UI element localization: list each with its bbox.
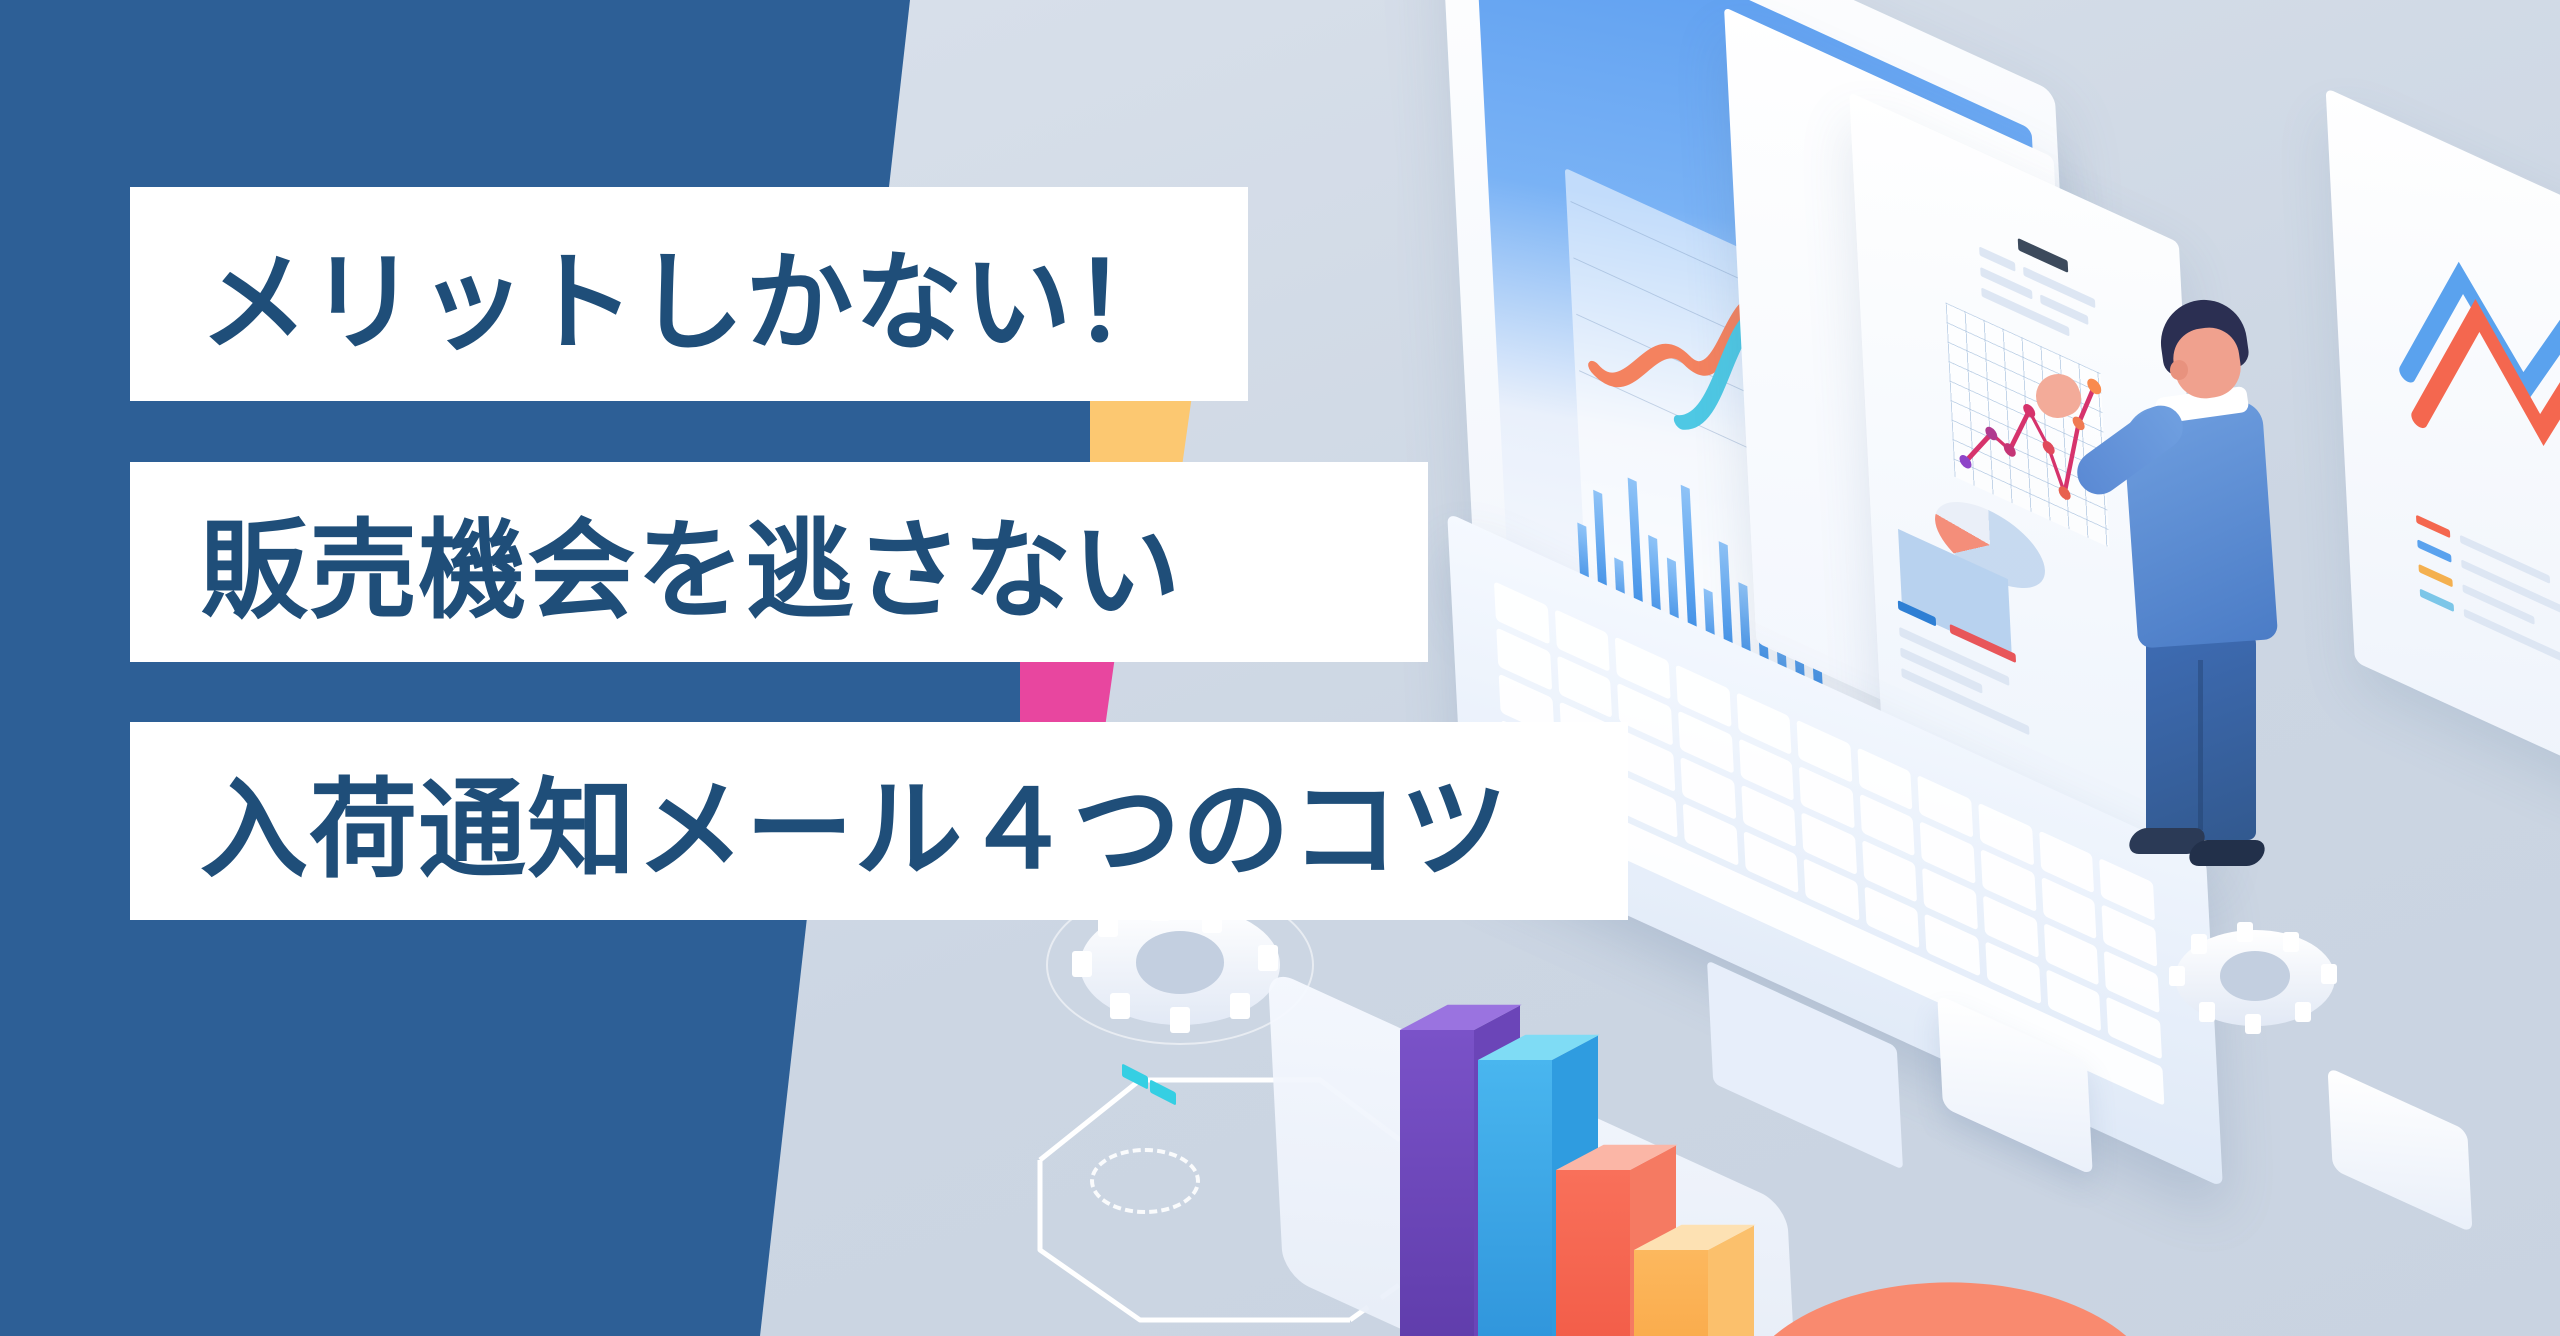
headline-text-1: メリットしかない！: [200, 216, 1182, 372]
pie-chart-3d: [1740, 1190, 2160, 1336]
headline-line-2: 販売機会を逃さない: [130, 462, 1428, 662]
headline-line-1: メリットしかない！: [130, 187, 1248, 401]
white-cube-decoration-2: [2327, 1067, 2472, 1233]
figure-ear: [2170, 360, 2188, 380]
gear-icon-secondary: [2175, 930, 2335, 1026]
headline-group: メリットしかない！ 販売機会を逃さない 入荷通知メール４つのコツ: [0, 0, 1750, 1336]
figure-shoe-right: [2186, 840, 2268, 866]
businessman-figure: [2070, 300, 2290, 860]
divider-bar-1: [0, 400, 1090, 462]
headline-line-3: 入荷通知メール４つのコツ: [130, 722, 1628, 920]
headline-text-2: 販売機会を逃さない: [200, 484, 1182, 640]
banner-canvas: メリットしかない！ 販売機会を逃さない 入荷通知メール４つのコツ: [0, 0, 2560, 1336]
figure-leg-split: [2198, 660, 2203, 830]
pie-chart-top: [1740, 1282, 2160, 1336]
headline-text-3: 入荷通知メール４つのコツ: [200, 743, 1509, 899]
divider-bar-2: [0, 662, 1020, 722]
